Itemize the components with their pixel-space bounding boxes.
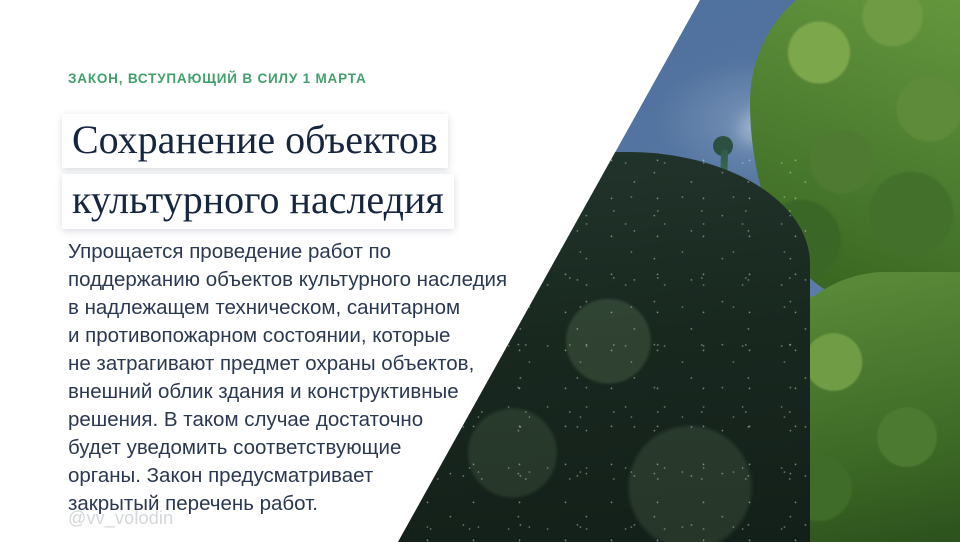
author-handle-watermark: @vv_volodin	[68, 508, 173, 529]
text-panel: ЗАКОН, ВСТУПАЮЩИЙ В СИЛУ 1 МАРТА Сохране…	[0, 0, 560, 542]
slide-canvas: ЗАКОН, ВСТУПАЮЩИЙ В СИЛУ 1 МАРТА Сохране…	[0, 0, 960, 542]
page-title: Сохранение объектов культурного наследия	[62, 114, 454, 229]
eyebrow-label: ЗАКОН, ВСТУПАЮЩИЙ В СИЛУ 1 МАРТА	[68, 71, 367, 86]
page-title-line-1: Сохранение объектов	[62, 114, 448, 168]
page-title-line-2: культурного наследия	[62, 174, 454, 228]
body-paragraph: Упрощается проведение работ по поддержан…	[68, 238, 548, 518]
